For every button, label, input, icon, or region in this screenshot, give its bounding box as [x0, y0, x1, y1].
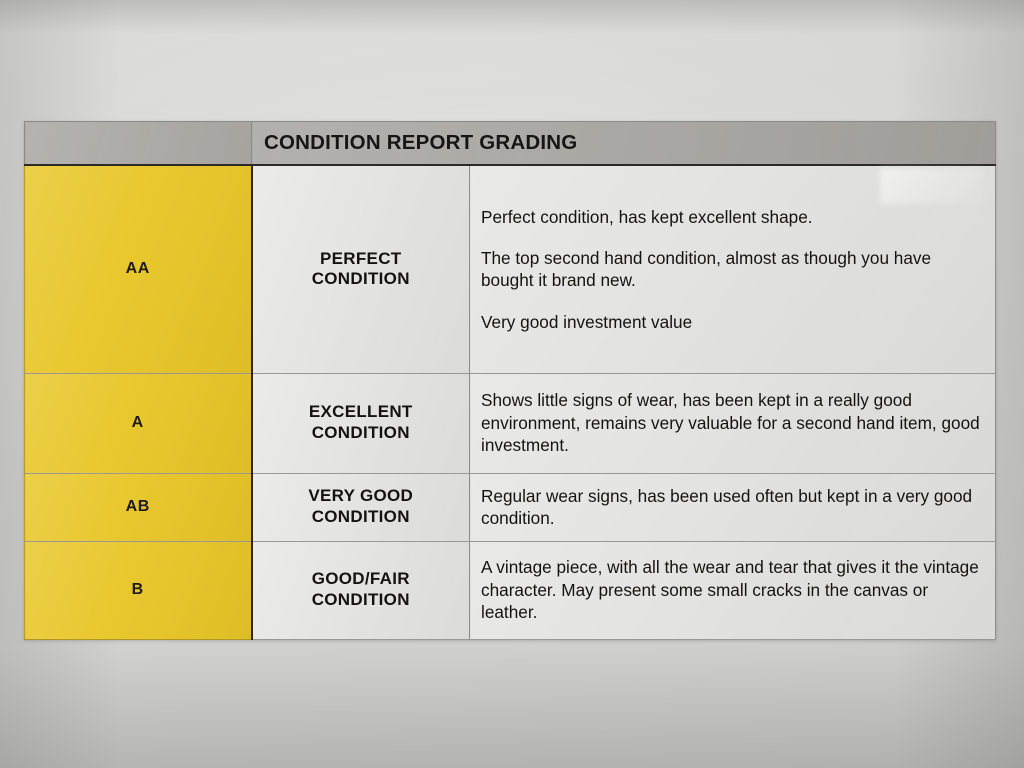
grade-code-aa: AA — [25, 165, 252, 373]
table-row: AA PERFECT CONDITION Perfect condition, … — [25, 165, 996, 373]
condition-line-2: CONDITION — [312, 507, 410, 526]
description-ab: Regular wear signs, has been used often … — [470, 473, 996, 541]
header-title-cell: CONDITION REPORT GRADING — [252, 122, 996, 166]
condition-line-1: PERFECT — [320, 249, 401, 268]
table-row: A EXCELLENT CONDITION Shows little signs… — [25, 373, 996, 473]
condition-name-ab: VERY GOOD CONDITION — [252, 473, 470, 541]
description-paragraph: Very good investment value — [481, 311, 983, 333]
condition-name-a: EXCELLENT CONDITION — [252, 373, 470, 473]
description-a: Shows little signs of wear, has been kep… — [470, 373, 996, 473]
condition-name-b: GOOD/FAIR CONDITION — [252, 541, 470, 639]
condition-line-2: CONDITION — [312, 269, 410, 288]
description-paragraph: Shows little signs of wear, has been kep… — [481, 389, 983, 456]
table-row: B GOOD/FAIR CONDITION A vintage piece, w… — [25, 541, 996, 639]
grade-code-ab: AB — [25, 473, 252, 541]
page-title: CONDITION REPORT GRADING — [252, 131, 995, 155]
condition-line-1: VERY GOOD — [308, 486, 413, 505]
condition-name-aa: PERFECT CONDITION — [252, 165, 470, 373]
grade-code-b: B — [25, 541, 252, 639]
condition-line-2: CONDITION — [312, 423, 410, 442]
description-b: A vintage piece, with all the wear and t… — [470, 541, 996, 639]
condition-line-1: GOOD/FAIR — [312, 569, 410, 588]
condition-report-grading-table: CONDITION REPORT GRADING AA PERFECT COND… — [24, 121, 996, 640]
grade-code-a: A — [25, 373, 252, 473]
condition-line-2: CONDITION — [312, 590, 410, 609]
table-header-row: CONDITION REPORT GRADING — [25, 122, 996, 166]
description-paragraph: A vintage piece, with all the wear and t… — [481, 556, 983, 623]
condition-line-1: EXCELLENT — [309, 402, 413, 421]
description-aa: Perfect condition, has kept excellent sh… — [470, 165, 996, 373]
header-blank-cell — [25, 122, 252, 166]
table-header: CONDITION REPORT GRADING — [25, 122, 996, 166]
description-paragraph: Perfect condition, has kept excellent sh… — [481, 206, 983, 228]
table-body: AA PERFECT CONDITION Perfect condition, … — [25, 165, 996, 639]
table-row: AB VERY GOOD CONDITION Regular wear sign… — [25, 473, 996, 541]
description-paragraph: Regular wear signs, has been used often … — [481, 485, 983, 530]
description-paragraph: The top second hand condition, almost as… — [481, 247, 983, 292]
